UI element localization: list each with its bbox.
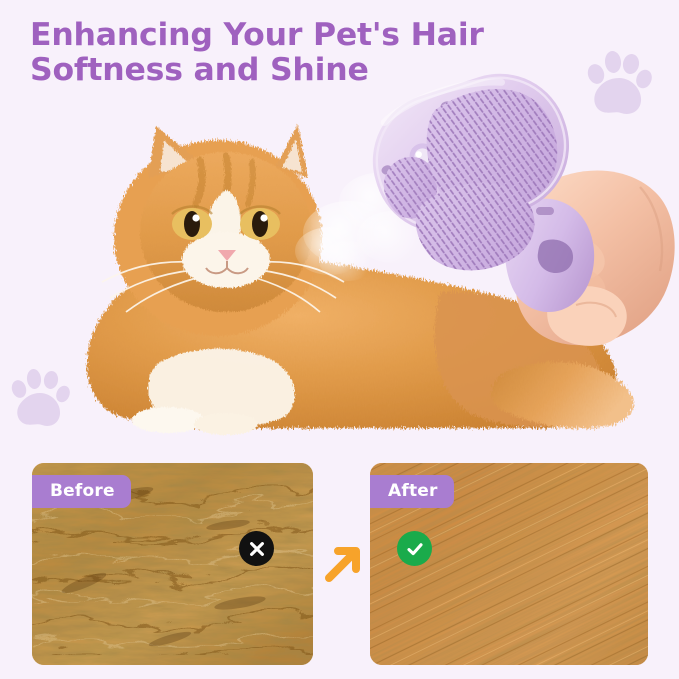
product-banner: Enhancing Your Pet's Hair Softness and S… <box>0 0 679 679</box>
check-icon <box>397 531 432 566</box>
after-panel: After <box>370 463 648 665</box>
before-label-badge: Before <box>32 475 131 508</box>
before-panel: Before <box>32 463 313 665</box>
cross-icon <box>239 531 274 566</box>
headline-line-1: Enhancing Your Pet's Hair <box>30 18 570 53</box>
headline-line-2: Softness and Shine <box>30 53 570 88</box>
after-label-badge: After <box>370 475 454 508</box>
page-title: Enhancing Your Pet's Hair Softness and S… <box>30 18 570 88</box>
arrow-up-right-icon <box>322 543 364 585</box>
grooming-brush-photo <box>350 55 679 365</box>
